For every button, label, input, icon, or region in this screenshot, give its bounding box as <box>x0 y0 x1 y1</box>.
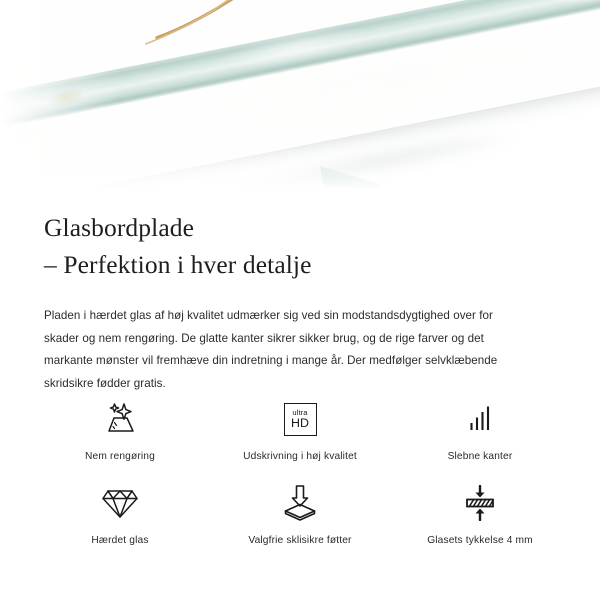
feature-tempered-glass: Hærdet glas <box>30 482 210 566</box>
feature-anti-slip-feet: Valgfrie sklisikre føtter <box>210 482 390 566</box>
thickness-icon <box>460 482 500 524</box>
headline-line-1: Glasbordplade <box>44 213 194 242</box>
feature-polished-edges: Slebne kanter <box>390 398 570 482</box>
hero-product-image <box>0 0 600 205</box>
page-title: Glasbordplade – Perfektion i hver detalj… <box>0 209 600 283</box>
ultra-hd-top-text: ultra <box>292 409 307 417</box>
ultra-hd-badge: ultra HD <box>284 403 317 436</box>
feature-easy-cleaning: Nem rengøring <box>30 398 210 482</box>
diamond-icon <box>101 482 139 524</box>
hero-bottom-fade <box>0 135 600 205</box>
ultra-hd-icon: ultra HD <box>284 398 317 440</box>
text-content: Glasbordplade – Perfektion i hver detalj… <box>0 205 600 395</box>
feature-label: Udskrivning i høj kvalitet <box>243 450 357 463</box>
feature-high-quality-print: ultra HD Udskrivning i høj kvalitet <box>210 398 390 482</box>
headline-line-2: – Perfektion i hver detalje <box>44 246 556 283</box>
feature-label: Hærdet glas <box>91 534 148 547</box>
polished-edge-icon <box>463 398 497 440</box>
sparkle-plate-icon <box>100 398 140 440</box>
product-description-page: Glasbordplade – Perfektion i hver detalj… <box>0 0 600 600</box>
ultra-hd-bottom-text: HD <box>291 417 309 429</box>
feature-label: Glasets tykkelse 4 mm <box>427 534 533 547</box>
feature-label: Nem rengøring <box>85 450 155 463</box>
feature-label: Valgfrie sklisikre føtter <box>248 534 351 547</box>
product-description-text: Pladen i hærdet glas af høj kvalitet udm… <box>0 305 560 395</box>
feature-glass-thickness: Glasets tykkelse 4 mm <box>390 482 570 566</box>
anti-slip-feet-icon <box>280 482 320 524</box>
feature-grid: Nem rengøring ultra HD Udskrivning i høj… <box>0 398 600 566</box>
feature-label: Slebne kanter <box>448 450 513 463</box>
